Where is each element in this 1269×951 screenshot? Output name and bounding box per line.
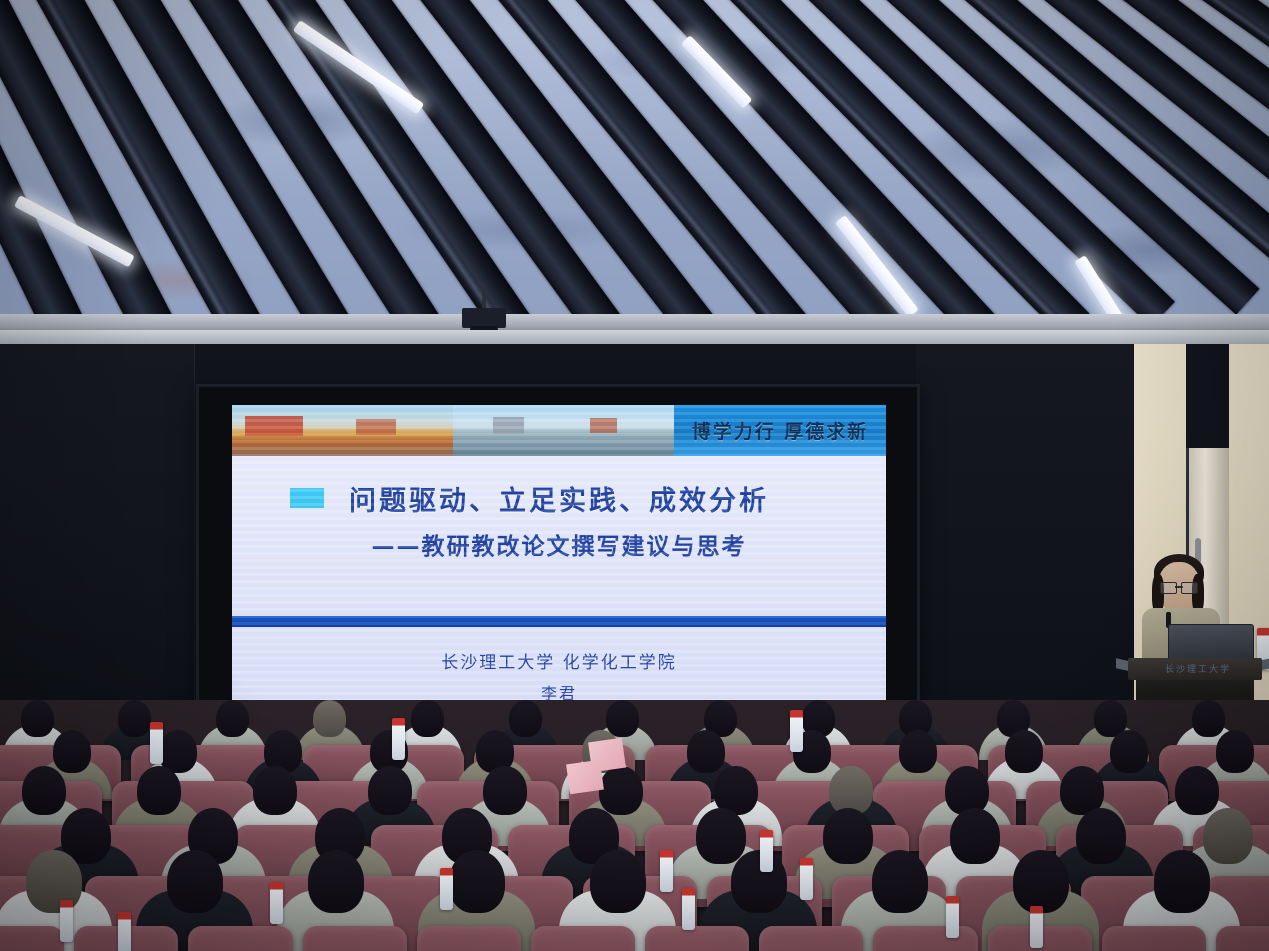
slide-title: 问题驱动、立足实践、成效分析 [232, 456, 886, 519]
auditorium-seat[interactable] [0, 926, 64, 951]
lecture-hall-photo: 博学力行 厚德求新 问题驱动、立足实践、成效分析 ——教研教改论文撰写建议与思考… [0, 0, 1269, 951]
audience-member-head [1203, 808, 1253, 864]
auditorium-seat[interactable] [759, 926, 863, 951]
audience-member-head [687, 730, 725, 773]
water-bottle-icon [440, 868, 453, 910]
audience-member-head [731, 850, 787, 913]
audience-member-head [872, 850, 928, 913]
audience-member-head [1192, 700, 1225, 737]
campus-photo-right [453, 405, 674, 456]
audience-member-head [590, 850, 646, 913]
water-bottle-icon [270, 882, 283, 924]
seat-row [0, 926, 1269, 951]
slide-presenter: 李君 [232, 680, 886, 701]
audience-member-head [1013, 850, 1069, 913]
audience-member-head [1154, 850, 1210, 913]
podium-front-text: 长沙理工大学 [1148, 662, 1248, 675]
paper-sheet [566, 760, 604, 794]
audience-member-head [449, 850, 505, 913]
university-motto: 博学力行 厚德求新 [674, 405, 886, 456]
water-bottle-icon [150, 722, 163, 764]
water-bottle-icon [946, 896, 959, 938]
water-bottle-icon [790, 710, 803, 752]
audience-member-head [509, 700, 542, 737]
auditorium-seat[interactable] [417, 926, 521, 951]
wall-trim [0, 330, 1269, 344]
audience-member-head [950, 808, 1000, 864]
auditorium-seat[interactable] [1216, 926, 1269, 951]
audience-member-head [21, 700, 54, 737]
slide-organization: 长沙理工大学 化学化工学院 [232, 648, 886, 673]
audience-member-head [26, 850, 82, 913]
audience-member-head [1005, 730, 1043, 773]
audience-member-head [945, 766, 989, 815]
water-bottle-icon [392, 718, 405, 760]
audience-member-head [1076, 808, 1126, 864]
audience-member-head [313, 700, 346, 737]
wall-panel [916, 344, 1029, 750]
presentation-slide: 博学力行 厚德求新 问题驱动、立足实践、成效分析 ——教研教改论文撰写建议与思考… [232, 405, 886, 701]
audience-member-head [411, 700, 444, 737]
water-bottle-icon [682, 888, 695, 930]
audience-member-head [118, 700, 151, 737]
audience-member-head [368, 766, 412, 815]
slide-header-banner: 博学力行 厚德求新 [232, 405, 886, 456]
slide-divider-bar [232, 616, 886, 627]
slide-subtitle: ——教研教改论文撰写建议与思考 [232, 527, 886, 561]
audience-area [0, 700, 1269, 951]
wall-panel [186, 344, 195, 750]
audience-member-head [1110, 730, 1148, 773]
audience-member-head [696, 808, 746, 864]
audience-member-head [253, 766, 297, 815]
water-bottle-icon [800, 858, 813, 900]
water-bottle-icon [60, 900, 73, 942]
auditorium-seat[interactable] [303, 926, 407, 951]
audience-member-head [137, 766, 181, 815]
water-bottle-icon [660, 850, 673, 892]
water-bottle-icon [118, 912, 131, 951]
projection-screen: 博学力行 厚德求新 问题驱动、立足实践、成效分析 ——教研教改论文撰写建议与思考… [196, 384, 920, 726]
audience-member-head [606, 700, 639, 737]
audience-member-head [599, 766, 643, 815]
slide-body: 问题驱动、立足实践、成效分析 ——教研教改论文撰写建议与思考 长沙理工大学 化学… [232, 456, 886, 701]
glasses-icon [1160, 582, 1198, 592]
audience-member-head [167, 850, 223, 913]
ceiling [0, 0, 1269, 336]
auditorium-seat[interactable] [645, 926, 749, 951]
audience-member-head [483, 766, 527, 815]
audience-member-head [308, 850, 364, 913]
auditorium-seat[interactable] [531, 926, 635, 951]
auditorium-seat[interactable] [873, 926, 977, 951]
campus-photo-left [232, 405, 453, 456]
audience-member-head [1216, 730, 1254, 773]
audience-member-head [216, 700, 249, 737]
water-bottle-icon [1030, 906, 1043, 948]
audience-member-head [22, 766, 66, 815]
audience-member-head [823, 808, 873, 864]
wall-panel [0, 344, 187, 750]
water-bottle-icon [760, 830, 773, 872]
audience-member-head [1175, 766, 1219, 815]
audience-member-head [899, 730, 937, 773]
auditorium-seat[interactable] [1102, 926, 1206, 951]
audience-member-head [53, 730, 91, 773]
auditorium-seat[interactable] [188, 926, 292, 951]
